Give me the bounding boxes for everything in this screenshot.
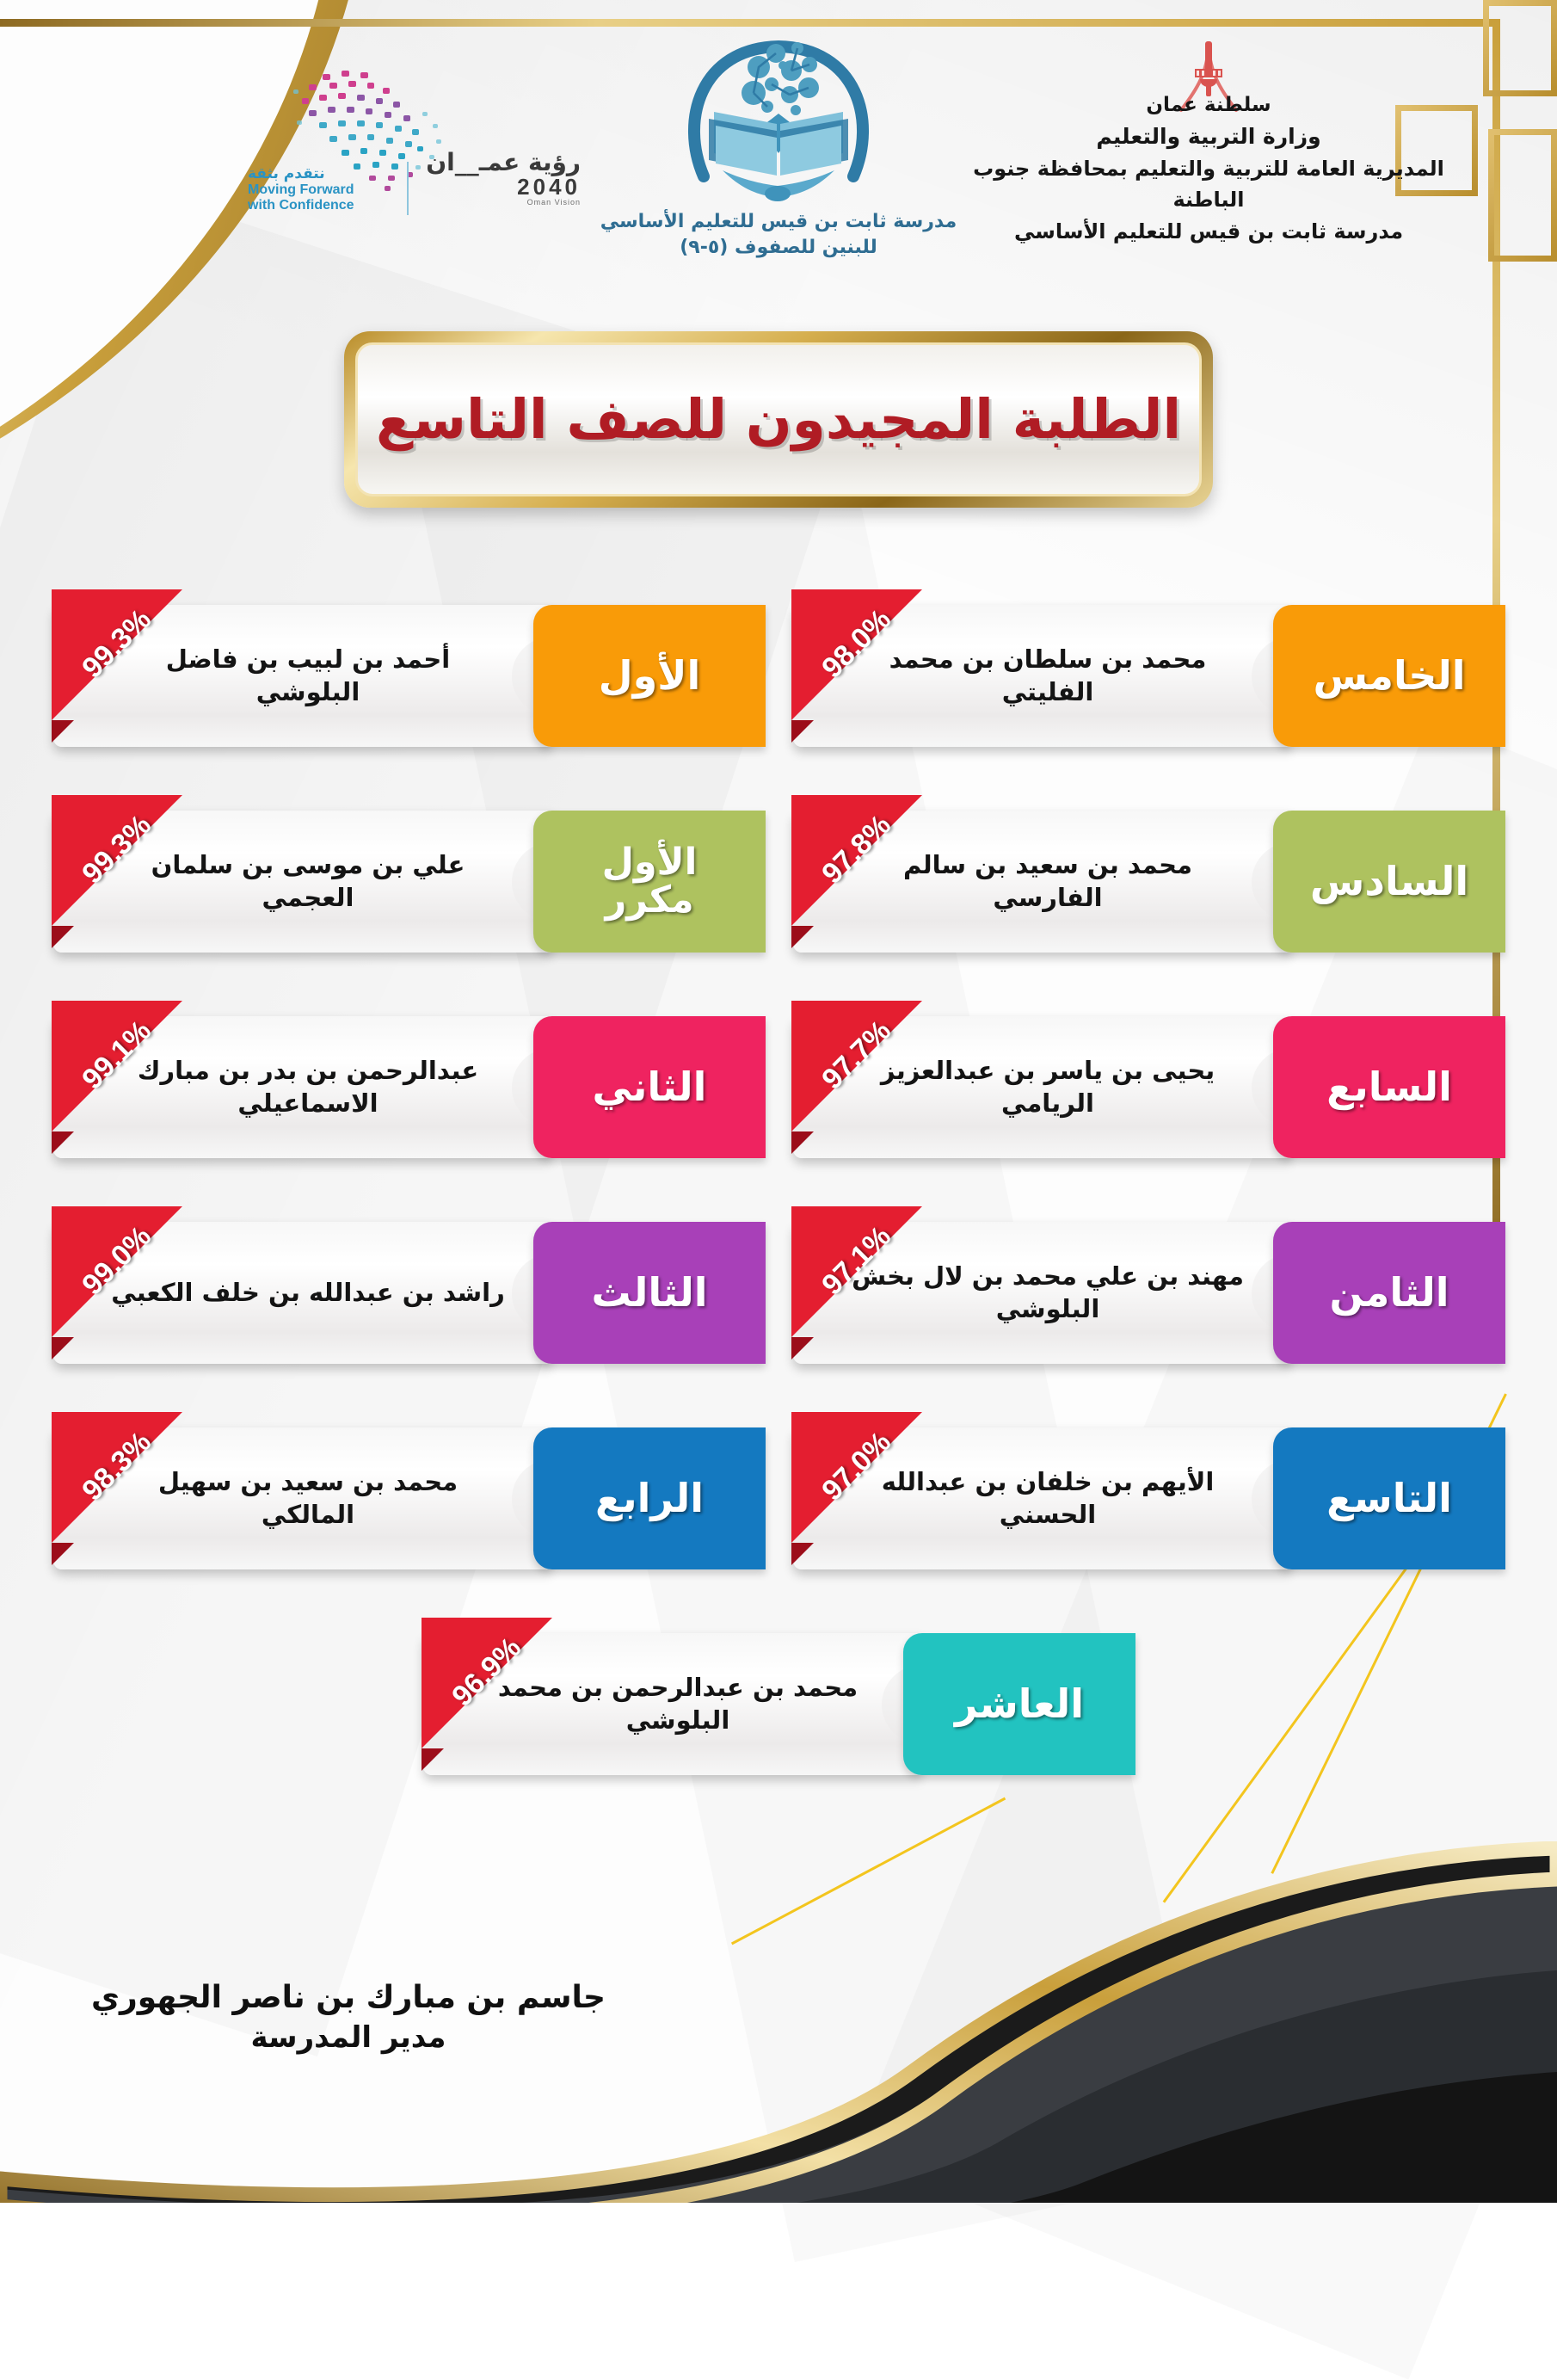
principal-name: جاسم بن مبارك بن ناصر الجهوري [47, 1977, 649, 2019]
vision-tagline-en-1: Moving Forward [248, 182, 354, 198]
rank-tab: الأول [533, 605, 766, 747]
rank-label: الأولمكرر [602, 844, 698, 920]
card-row: محمد بن عبدالرحمن بن محمد البلوشيالعاشر9… [0, 1618, 1557, 1788]
percentage-ribbon: 97.0% [791, 1412, 922, 1565]
percentage-ribbon: 98.3% [52, 1412, 182, 1565]
title-plaque: الطلبة المجيدون للصف التاسع [344, 331, 1213, 508]
percentage-ribbon: 96.9% [422, 1618, 552, 1771]
ministry-line-school: مدرسة ثابت بن قيس للتعليم الأساسي [951, 216, 1467, 247]
card-row: محمد بن سلطان بن محمد الفليتيالخامس98.0%… [0, 589, 1557, 760]
rank-tab: الأولمكرر [533, 811, 766, 953]
vision-tagline: نتقدم بثقة Moving Forward with Confidenc… [248, 165, 354, 214]
rank-tab: الخامس [1273, 605, 1505, 747]
percentage-ribbon: 99.0% [52, 1206, 182, 1360]
school-logo-caption-line1: مدرسة ثابت بن قيس للتعليم الأساسي [594, 209, 963, 235]
vision-name-en: Oman Vision [426, 198, 581, 207]
vision-wordmark: رؤية عمـ__ان 2040 Oman Vision [426, 148, 581, 207]
vision-tagline-en-2: with Confidence [248, 198, 354, 213]
rank-tab: الرابع [533, 1427, 766, 1569]
student-card: يحيى بن ياسر بن عبدالعزيز الرياميالسابع9… [791, 1001, 1505, 1171]
percentage-ribbon: 97.7% [791, 1001, 922, 1154]
rank-label: السادس [1310, 861, 1468, 902]
ministry-line-ministry: وزارة التربية والتعليم [951, 120, 1467, 153]
poster-header: سلطنة عمان وزارة التربية والتعليم المدير… [0, 26, 1557, 310]
principal-signature: جاسم بن مبارك بن ناصر الجهوري مدير المدر… [47, 1977, 649, 2058]
rank-tab: السابع [1273, 1016, 1505, 1158]
student-card: علي بن موسى بن سلمان العجميالأولمكرر99.3… [52, 795, 766, 965]
rank-label: التاسع [1326, 1478, 1452, 1519]
vision-divider [407, 162, 409, 215]
student-card: محمد بن سلطان بن محمد الفليتيالخامس98.0% [791, 589, 1505, 760]
percentage-ribbon: 99.1% [52, 1001, 182, 1154]
student-card: الأيهم بن خلفان بن عبدالله الحسنيالتاسع9… [791, 1412, 1505, 1582]
page-title: الطلبة المجيدون للصف التاسع [376, 388, 1181, 451]
ministry-line-directorate: المديرية العامة للتربية والتعليم بمحافظة… [951, 153, 1467, 216]
card-row: محمد بن سعيد بن سالم الفارسيالسادس97.8%ع… [0, 795, 1557, 965]
school-logo: مدرسة ثابت بن قيس للتعليم الأساسي للبنين… [594, 17, 963, 260]
rank-label: الثاني [593, 1067, 707, 1107]
rank-label: السابع [1326, 1067, 1452, 1107]
rank-label: العاشر [955, 1684, 1084, 1724]
percentage-ribbon: 97.8% [791, 795, 922, 948]
student-card: محمد بن سعيد بن سالم الفارسيالسادس97.8% [791, 795, 1505, 965]
percentage-ribbon: 97.1% [791, 1206, 922, 1360]
rank-tab: الثالث [533, 1222, 766, 1364]
student-card: محمد بن عبدالرحمن بن محمد البلوشيالعاشر9… [422, 1618, 1135, 1788]
percentage-ribbon: 99.3% [52, 795, 182, 948]
rank-label: الخامس [1314, 656, 1466, 696]
rank-tab: التاسع [1273, 1427, 1505, 1569]
school-book-icon [662, 17, 895, 202]
rank-label: الرابع [595, 1478, 704, 1519]
student-card: محمد بن سعيد بن سهيل المالكيالرابع98.3% [52, 1412, 766, 1582]
rank-tab: العاشر [903, 1633, 1135, 1775]
school-logo-caption-line2: للبنين للصفوف (٥-٩) [594, 235, 963, 261]
vision-tagline-ar: نتقدم بثقة [248, 165, 354, 182]
rank-label: الثالث [591, 1273, 707, 1313]
ministry-heading: سلطنة عمان وزارة التربية والتعليم المدير… [951, 90, 1467, 247]
card-row: مهند بن علي محمد بن لال بخش البلوشيالثام… [0, 1206, 1557, 1377]
card-row: الأيهم بن خلفان بن عبدالله الحسنيالتاسع9… [0, 1412, 1557, 1582]
rank-label: الأول [599, 656, 701, 696]
rank-label: الثامن [1330, 1273, 1449, 1313]
rank-tab: الثامن [1273, 1222, 1505, 1364]
student-card: مهند بن علي محمد بن لال بخش البلوشيالثام… [791, 1206, 1505, 1377]
percentage-ribbon: 99.3% [52, 589, 182, 743]
student-card: راشد بن عبدالله بن خلف الكعبيالثالث99.0% [52, 1206, 766, 1377]
card-row: يحيى بن ياسر بن عبدالعزيز الرياميالسابع9… [0, 1001, 1557, 1171]
rank-tab: السادس [1273, 811, 1505, 953]
principal-title: مدير المدرسة [47, 2019, 649, 2058]
honor-roll-grid: محمد بن سلطان بن محمد الفليتيالخامس98.0%… [0, 589, 1557, 1823]
student-card: عبدالرحمن بن بدر بن مبارك الاسماعيليالثا… [52, 1001, 766, 1171]
oman-vision-2040-logo: نتقدم بثقة Moving Forward with Confidenc… [219, 60, 589, 215]
rank-tab: الثاني [533, 1016, 766, 1158]
vision-year: 2040 [426, 176, 581, 198]
student-card: أحمد بن لبيب بن فاضل البلوشيالأول99.3% [52, 589, 766, 760]
percentage-ribbon: 98.0% [791, 589, 922, 743]
ministry-line-country: سلطنة عمان [951, 90, 1467, 120]
vision-name-ar: رؤية عمـ__ان [426, 148, 581, 176]
